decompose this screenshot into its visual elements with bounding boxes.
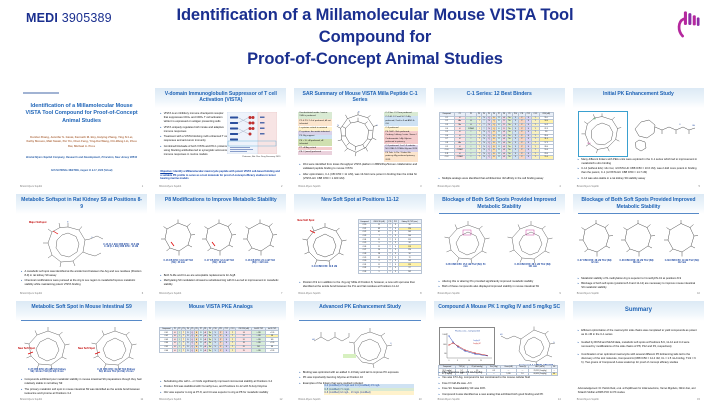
bullet-item: Chemical modifications were pursued at t… xyxy=(21,279,142,287)
bullet-item: Metabolic stability of N-methylation Arg… xyxy=(578,277,699,281)
bullet-item: PK was importantly favoring Glycine at P… xyxy=(299,376,420,380)
bullet-item: Cbz was superior to Arg at P7-8, and Cit… xyxy=(160,391,281,395)
bullet-item: C-14 (without EG): 14x Cer, mVISTA HC CB… xyxy=(578,167,699,175)
bullet-item: The primary metabolic soft spot in mouse… xyxy=(21,388,142,396)
svg-text:N: N xyxy=(358,111,360,113)
softspot-table: CompoundCB8 IC50 (nM)P11P12Kidney S9 T1/… xyxy=(358,219,422,274)
slide-vista-intro[interactable]: V-domain Immunoglobulin Suppressor of T … xyxy=(155,88,286,190)
bullet-item: Compounds exhibited poor metabolic stabi… xyxy=(21,378,142,386)
bullet-item: After optimization, C-1 (CB IC50 = 11 mM… xyxy=(299,173,420,181)
slide-footer-logo: Bristol-Myers Squibb xyxy=(20,398,42,401)
slide-page-number: 6 xyxy=(142,292,143,295)
structure-label: C-34 CB8 IC50: 12.8 nM xyxy=(304,266,344,268)
structure-data-label: C-14 (C-1 EG) CB8 IC50 : 10.6 nM C-16 (C… xyxy=(103,244,139,248)
slide-cell[interactable]: New Soft Spot at Positions 11-12 New Sof… xyxy=(290,192,429,298)
macrocycle-structure-1 xyxy=(576,219,616,259)
author-list: Kunhui Zhang, Jennifer S. Gavai, Kenneth… xyxy=(26,135,137,148)
sub-item: C-6 (modified) 12 mg/L , 13 mg/L (modifi… xyxy=(324,391,413,395)
slide-cell[interactable]: C-1 Series: 12 Best Binders CompoundP1P2… xyxy=(430,86,569,192)
title-rule xyxy=(21,320,142,321)
slide-footer-logo: Bristol-Myers Squibb xyxy=(438,398,460,401)
slide-footer-logo: Bristol-Myers Squibb xyxy=(20,292,42,295)
compound-a-structure: OHO xyxy=(499,325,561,365)
objective-block: Objective: Identify a Millamolecular mac… xyxy=(160,170,281,182)
slide-title: Blockage of Both Soft Spots Provided Imp… xyxy=(438,197,561,210)
table-cell: Y xyxy=(229,349,236,353)
slide-title: Metabolic Softspot in Rat Kidney S9 at P… xyxy=(20,197,143,210)
slide-bullets: 3/11 were identified from lower-throughp… xyxy=(299,163,420,182)
slide-cell[interactable]: Metabolic Soft Spot in Mouse Intestinal … xyxy=(12,299,151,405)
title-rule xyxy=(578,213,699,214)
slide-footer-logo: Bristol-Myers Squibb xyxy=(577,292,599,295)
table-cell: C-46 xyxy=(160,349,173,353)
bullet-item: Position 8-9 is in addition to the 'Arg-… xyxy=(299,281,420,289)
slide-bullets: Metabolic stability of N-methylation Arg… xyxy=(578,277,699,292)
slide-footer-logo: Bristol-Myers Squibb xyxy=(438,185,460,188)
slide-blockage-a[interactable]: Blockage of Both Soft Spots Provided Imp… xyxy=(434,194,565,296)
slide-title: Advanced PK Enhancement Study xyxy=(298,304,421,310)
bullet-item: Combination of an optimized macrocycle w… xyxy=(578,353,699,365)
table-cell: CONH2 xyxy=(454,156,465,160)
table-cell: C-12 xyxy=(439,156,454,160)
data-tag: C-16 (C-1 EG) CB8 IC50 : 13 nM xyxy=(103,246,139,248)
bullet-item: Vss was 0.5 L/kg, compound is two constr… xyxy=(439,376,560,380)
bms-hand-logo-icon xyxy=(672,8,706,42)
pk-concentration-chart: Plasma conc., Compound A 100001000100 xyxy=(439,327,495,365)
macrocycle-structure-1 xyxy=(159,218,197,258)
svg-text:OH: OH xyxy=(692,125,696,127)
svg-text:O: O xyxy=(390,343,392,345)
pke-linker-structure: HOO xyxy=(310,326,404,368)
structure-label-1: C-37 CB8 IC50: 28 nM T1/2 (S9): 42 min xyxy=(577,260,613,264)
slide-page-number: 8 xyxy=(420,292,421,295)
slide-title: New Soft Spot at Positions 11-12 xyxy=(298,197,421,203)
slide-page-number: 3 xyxy=(420,185,421,188)
slide-bullets: Compounds exhibited poor metabolic stabi… xyxy=(21,378,142,397)
macrocycle-structure-2 xyxy=(200,218,238,258)
slide-bullets: The clearance was 1.5 mL/min/kg Vss was … xyxy=(439,371,560,398)
title-rule xyxy=(439,213,560,214)
page-title: Identification of a Millamolecular Mouse… xyxy=(140,5,610,70)
svg-text:1 mg/kg IV: 1 mg/kg IV xyxy=(473,340,480,342)
legend-item: P8: 2 (need) preferred xyxy=(298,151,332,155)
poster-header: MEDI 3905389 Identification of a Millamo… xyxy=(0,0,720,86)
slide-bullets: Many different linkers with PEG units we… xyxy=(578,158,699,182)
bullet-item: Blockage of both soft spots (positions 8… xyxy=(578,282,699,290)
slide-page-number: 15 xyxy=(697,398,700,401)
abstract-id: 3905389 xyxy=(62,11,112,25)
slide-cell[interactable]: Advanced PK Enhancement Study HOO xyxy=(290,299,429,405)
slide-page-number: 10 xyxy=(697,292,700,295)
slide-cell[interactable]: Compound A Mouse PK 1 mg/kg IV and 5 mg/… xyxy=(430,299,569,405)
slide-page-number: 2 xyxy=(281,185,282,188)
structure-label-1: C-37 CB8 IC50: 28 nM T1/2 (Kidney S9): 4… xyxy=(26,369,68,373)
slide-pke-analogs[interactable]: Mouse VISTA PKE Analogs CompoundP1P2P3P4… xyxy=(155,301,286,403)
structure-label-3: C-18 CB IC50: 24.1 nM T1/2 (S9) : >120 m… xyxy=(243,260,277,264)
slide-title: Metabolic Soft Spot in Mouse Intestinal … xyxy=(20,304,143,310)
objective-text: Identify a Millamolecular macrocycle pep… xyxy=(160,170,280,181)
macrocycle-structure-3 xyxy=(241,218,279,258)
bullet-item: Methylating S9 modulation showed a subst… xyxy=(160,279,281,287)
svg-text:N: N xyxy=(67,222,69,224)
table-body: C-2011TV56C-2163TV124C-2261TV145C-237TV1… xyxy=(358,223,421,273)
meeting-info: ACS NATIONAL MEETING, August 11 & 17, 20… xyxy=(26,170,137,172)
svg-text:5 mg/kg SC: 5 mg/kg SC xyxy=(473,343,482,345)
slide-title: C-1 Series: 12 Best Binders xyxy=(438,91,561,97)
sub-item-list: C-4 (modified) 2.5 mg/L and C-4 (modifie… xyxy=(324,384,413,395)
slide-initial-pk[interactable]: Initial PK Enhancement Study OH NH xyxy=(573,88,704,190)
abstract-prefix: MEDI xyxy=(26,11,58,25)
sar-legend-left: Unsubstituted amide / amine: VHS is pref… xyxy=(298,112,332,155)
bullet-item: Free SC bioavailability %F was 46% xyxy=(439,387,560,391)
slide-compound-a-pk[interactable]: Compound A Mouse PK 1 mg/kg IV and 5 mg/… xyxy=(434,301,565,403)
table-body: C-41HITNQERAThrVPSY14> 120> 120C-42HITNQ… xyxy=(160,331,279,353)
legend-item: P2 & P3: 2-4 of preferred, dll not toler… xyxy=(298,119,332,126)
table-cell: I xyxy=(465,156,476,160)
conference-poster: MEDI 3905389 Identification of a Millamo… xyxy=(0,0,720,405)
slide-page-number: 1 xyxy=(142,185,143,188)
macrocycle-structure-1 xyxy=(442,220,494,264)
slide-metabolic-softspot-kidney[interactable]: Metabolic Softspot in Rat Kidney S9 at P… xyxy=(16,194,147,296)
bullet-item: Multiple analogs were identified that ex… xyxy=(439,177,560,181)
objective-label: Objective: xyxy=(160,170,173,173)
slide-cell[interactable]: SAR Summary of Mouse VISTA Milla Peptide… xyxy=(290,86,429,192)
acknowledgement: Acknowledgement: Dr. Patrick Reid, et al… xyxy=(578,387,699,394)
vista-pathway-diagram xyxy=(227,112,277,154)
svg-text:1000: 1000 xyxy=(443,344,447,346)
slide-bullets: Efficient optimization of the macrocycli… xyxy=(578,329,699,369)
svg-text:HO: HO xyxy=(500,334,503,336)
softspot-annotation-2: New Soft Spot xyxy=(78,347,95,350)
slide-footer-logo: Bristol-Myers Squibb xyxy=(298,185,320,188)
slide-title: V-domain Immunoglobulin Suppressor of T … xyxy=(159,91,282,104)
slide-title: Compound A Mouse PK 1 mg/kg IV and 5 mg/… xyxy=(438,304,561,310)
svg-text:0: 0 xyxy=(448,360,449,362)
slide-footer-logo: Bristol-Myers Squibb xyxy=(577,185,599,188)
bullet-item: Guided by RKS9 and MuS9 data, metabolic … xyxy=(578,341,699,349)
slide-page-number: 12 xyxy=(280,398,283,401)
slide-blockage-b[interactable]: Blockage of Both Soft Spots Provided Imp… xyxy=(573,194,704,296)
slide-p8-modifications[interactable]: P8 Modifications to Improve Metabolic St… xyxy=(155,194,286,296)
slide-title: Blockage of Both Soft Spots Provided Imp… xyxy=(577,197,700,210)
slide-bullets: A metabolic soft spot was identified at … xyxy=(21,270,142,289)
slide-advanced-pk[interactable]: Advanced PK Enhancement Study HOO xyxy=(294,301,425,403)
bullet-item: Both of these compounds also displayed i… xyxy=(439,285,560,289)
svg-text:OH: OH xyxy=(593,118,597,120)
bullet-item: Binding was optimized with an added C-13… xyxy=(299,371,420,375)
bullet-item: C-14 was also stable in a rat kidney S9 … xyxy=(578,177,699,181)
svg-text:8: 8 xyxy=(457,360,458,362)
slide-page-number: 14 xyxy=(558,398,561,401)
svg-text:O: O xyxy=(679,124,681,126)
bullet-item: Altering this or altering Pro provided s… xyxy=(439,280,560,284)
slide-metabolic-softspot-intestinal[interactable]: Metabolic Soft Spot in Mouse Intestinal … xyxy=(16,301,147,403)
affiliation: Bristol-Myers Squibb Company, Research a… xyxy=(26,156,137,160)
legend-item: C-5 preferred: 1-a-C-5 substitu NO ONE-2… xyxy=(384,145,418,152)
bullet-item: The clearance was 1.5 mL/min/kg xyxy=(439,371,560,375)
slide-footer-logo: Bristol-Myers Squibb xyxy=(159,185,181,188)
structure-label-2: C-17 CB IC50: 12.3 nM T1/2 (S9) : 48 min xyxy=(202,260,236,264)
table-cell: 15.0 xyxy=(539,156,553,160)
slide-summary[interactable]: Summary Efficient optimization of the ma… xyxy=(573,301,704,403)
table-cell: 102 xyxy=(398,270,421,274)
bullet-item: Combined blockade of both VISTA and PD-1… xyxy=(160,145,228,157)
pk-linker-structure: OOH xyxy=(629,115,699,153)
slide-cell[interactable]: V-domain Immunoglobulin Suppressor of T … xyxy=(151,86,290,192)
legend-item: P6 + 1L: dll preferred, dll tolerated xyxy=(298,139,332,146)
structure-label-2: C-40 CB8 IC50: 19 nM T1/2 (Kidney S9): 9… xyxy=(95,369,137,373)
structure-label-1: C-16 CB IC50: 14.8 nM T1/2 (S9) : 23 min xyxy=(161,260,195,264)
slide-bullets: Substituting Abu with L- or N-Me signifi… xyxy=(160,380,281,396)
bullet-item: Compound A was identified as a new analo… xyxy=(439,393,560,397)
svg-text:24: 24 xyxy=(480,360,482,362)
structure-label-1: C-35 CB8 IC50: 15.0 nM T1/2 (S9): 54 min xyxy=(446,264,486,268)
macrocycle-structure-2 xyxy=(505,220,557,264)
slide-footer-logo: Bristol-Myers Squibb xyxy=(298,292,320,295)
macrocycle-structure: OH NH xyxy=(579,112,625,154)
legend-item: C-2 dll: C-2 and 3-C-2 dlly preferred; 2… xyxy=(384,116,418,126)
slide-cell[interactable]: Mouse VISTA PKE Analogs CompoundP1P2P3P4… xyxy=(151,299,290,405)
title-line-3: Proof-of-Concept Animal Studies xyxy=(140,49,610,71)
slide-bullets: VISTA is an inhibitory immune checkpoint… xyxy=(160,112,228,158)
slide-page-number: 4 xyxy=(559,185,560,188)
svg-text:100: 100 xyxy=(444,353,447,355)
slide-bullets: Altering this or altering Pro provided s… xyxy=(439,280,560,291)
slide-cell[interactable]: Initial PK Enhancement Study OH NH xyxy=(569,86,708,192)
table-body: C-1HITNQERAThrVPSY11.0C-2AlaHITNQERThrVP… xyxy=(439,116,553,159)
legend-item: P6: NH2 - Neh preferred; Carboxy / alkox… xyxy=(384,131,418,144)
table-row[interactable]: C-46HITNQERAThrVPSY19> 120> 120 xyxy=(160,349,279,353)
slide-title: SAR Summary of Mouse VISTA Milla Peptide… xyxy=(298,91,421,104)
slide-cell[interactable]: Blockage of Both Soft Spots Provided Imp… xyxy=(569,192,708,298)
title-rule xyxy=(299,320,420,321)
svg-text:O: O xyxy=(377,125,379,127)
chart-title-text: Plasma conc., Compound A xyxy=(455,329,480,332)
slide-page-number: 9 xyxy=(559,292,560,295)
slide-page-number: 11 xyxy=(140,398,143,401)
macrocycle-structure-2 xyxy=(618,219,658,259)
slide-footer-logo: Bristol-Myers Squibb xyxy=(298,398,320,401)
macrocycle-structure: NON xyxy=(334,111,382,159)
slide-footer-logo: Bristol-Myers Squibb xyxy=(577,398,599,401)
table-cell: 9 xyxy=(371,270,388,274)
bullet-item: Many different linkers with PEG units we… xyxy=(578,158,699,166)
svg-text:10000: 10000 xyxy=(442,334,446,336)
slide-page-number: 7 xyxy=(281,292,282,295)
slide-page-number: 5 xyxy=(699,185,700,188)
bullet-item: Substituting Abu with L- or N-Me signifi… xyxy=(160,380,281,384)
slide-new-soft-spot[interactable]: New Soft Spot at Positions 11-12 New Sof… xyxy=(294,194,425,296)
legend-item: Unsubstituted amide / amine: VHS is pref… xyxy=(298,112,332,119)
svg-text:HO: HO xyxy=(312,339,315,341)
title-line-1: Identification of a Millamolecular Mouse… xyxy=(140,5,610,27)
citation: Paterson, Nat. Rev. Drug Discovery 2019 xyxy=(242,156,280,158)
bullet-item: Both N-Me and D-Leu are acceptable repla… xyxy=(160,274,281,278)
macrocycle-structure xyxy=(300,222,352,266)
slide-bullets: Position 8-9 is in addition to the 'Arg-… xyxy=(299,281,420,290)
table-cell: C-33 xyxy=(358,270,371,274)
table-cell: 19 xyxy=(236,349,252,353)
slide-footer-logo: Bristol-Myers Squibb xyxy=(20,185,42,188)
slide-title: P8 Modifications to Improve Metabolic St… xyxy=(159,197,282,203)
svg-text:NH: NH xyxy=(587,143,590,145)
slide-footer-logo: Bristol-Myers Squibb xyxy=(159,398,181,401)
slide-cell[interactable]: Metabolic Softspot in Rat Kidney S9 at P… xyxy=(12,192,151,298)
slide-sar-summary[interactable]: SAR Summary of Mouse VISTA Milla Peptide… xyxy=(294,88,425,190)
slide-bullets: Multiple analogs were identified that ex… xyxy=(439,177,560,182)
slide-title: Initial PK Enhancement Study xyxy=(577,91,700,97)
pke-analogs-table: CompoundP1P2P3P4P5P6P7P8P9P10P11P12C-13C… xyxy=(159,327,279,353)
slide-page-number: 13 xyxy=(419,398,422,401)
softspot-annotation-1: New Soft Spot xyxy=(18,347,35,350)
slide-cell[interactable]: P8 Modifications to Improve Metabolic St… xyxy=(151,192,290,298)
table-row[interactable]: C-339TV102 xyxy=(358,270,421,274)
slide-cell[interactable]: Blockage of Both Soft Spots Provided Imp… xyxy=(430,192,569,298)
svg-text:N: N xyxy=(338,125,340,127)
macrocycle-structure-3 xyxy=(661,219,701,259)
svg-text:16: 16 xyxy=(468,360,470,362)
table-cell: > 120 xyxy=(252,349,266,353)
structure-label-2: C-38 CB8 IC50: 23 nM T1/2 (S9): 88 min xyxy=(619,260,655,264)
bullet-item: Treatment with a VISTA blocking mAb enha… xyxy=(160,135,228,143)
bullet-item: Free IV half-life was ~6 h xyxy=(439,382,560,386)
sar-legend-right: C-1 Ser: C-2 free preferred C-2 dll: C-2… xyxy=(384,112,418,163)
structure-label-3: C-39 CB8 IC50: 19 nM T1/2 (S9): 112 min xyxy=(664,260,700,264)
bullet-item: A metabolic soft spot was identified at … xyxy=(21,270,142,278)
macrocycle-structure: NO xyxy=(38,220,110,268)
slide-footer-logo: Bristol-Myers Squibb xyxy=(438,292,460,295)
slide-title: Identification of a Millamolecular Mouse… xyxy=(24,103,139,125)
slide-grid: Identification of a Millamolecular Mouse… xyxy=(0,86,720,405)
bullet-item: VISTA is an inhibitory immune checkpoint… xyxy=(160,112,228,124)
title-line-2: Compound for xyxy=(140,27,610,49)
binders-table: CompoundP1P2P3P4P5P6P7P8P9P10P11P12C-13I… xyxy=(439,112,554,160)
legend-item: P6 Tolu: L-Cle / Carbo Glu potency dlly … xyxy=(384,152,418,162)
slide-footer-logo: Bristol-Myers Squibb xyxy=(159,292,181,295)
slide-kicker-bar xyxy=(23,92,59,94)
abstract-number: MEDI 3905389 xyxy=(26,11,112,25)
slide-c1-best-binders[interactable]: C-1 Series: 12 Best Binders CompoundP1P2… xyxy=(434,88,565,190)
bullet-item: 3/11 were identified from lower-throughp… xyxy=(299,163,420,171)
slide-title: Mouse VISTA PKE Analogs xyxy=(159,304,282,310)
bullet-item: Position 8-9 was stabilized with N-methy… xyxy=(160,385,281,389)
table-row[interactable]: C-12CONH2ITNQERAThrVPSY15.0 xyxy=(439,156,553,160)
slide-cell[interactable]: Summary Efficient optimization of the ma… xyxy=(569,299,708,405)
slide-bullets: Both N-Me and D-Leu are acceptable repla… xyxy=(160,274,281,289)
bullet-item: VISTA uniquely regulates both innate and… xyxy=(160,126,228,134)
slide-cell[interactable]: Identification of a Millamolecular Mouse… xyxy=(12,86,151,192)
slide-title: Summary xyxy=(577,307,700,315)
macrocycle-structure-2 xyxy=(88,326,142,370)
slide-title-slide[interactable]: Identification of a Millamolecular Mouse… xyxy=(16,88,147,190)
table-cell: > 120 xyxy=(266,349,279,353)
structure-label-2: C-36 CB8 IC50: 38.1 nM T1/2 (S9): 101 mi… xyxy=(513,264,553,268)
bullet-item: Efficient optimization of the macrocycli… xyxy=(578,329,699,337)
table-cell: Y xyxy=(532,156,540,160)
